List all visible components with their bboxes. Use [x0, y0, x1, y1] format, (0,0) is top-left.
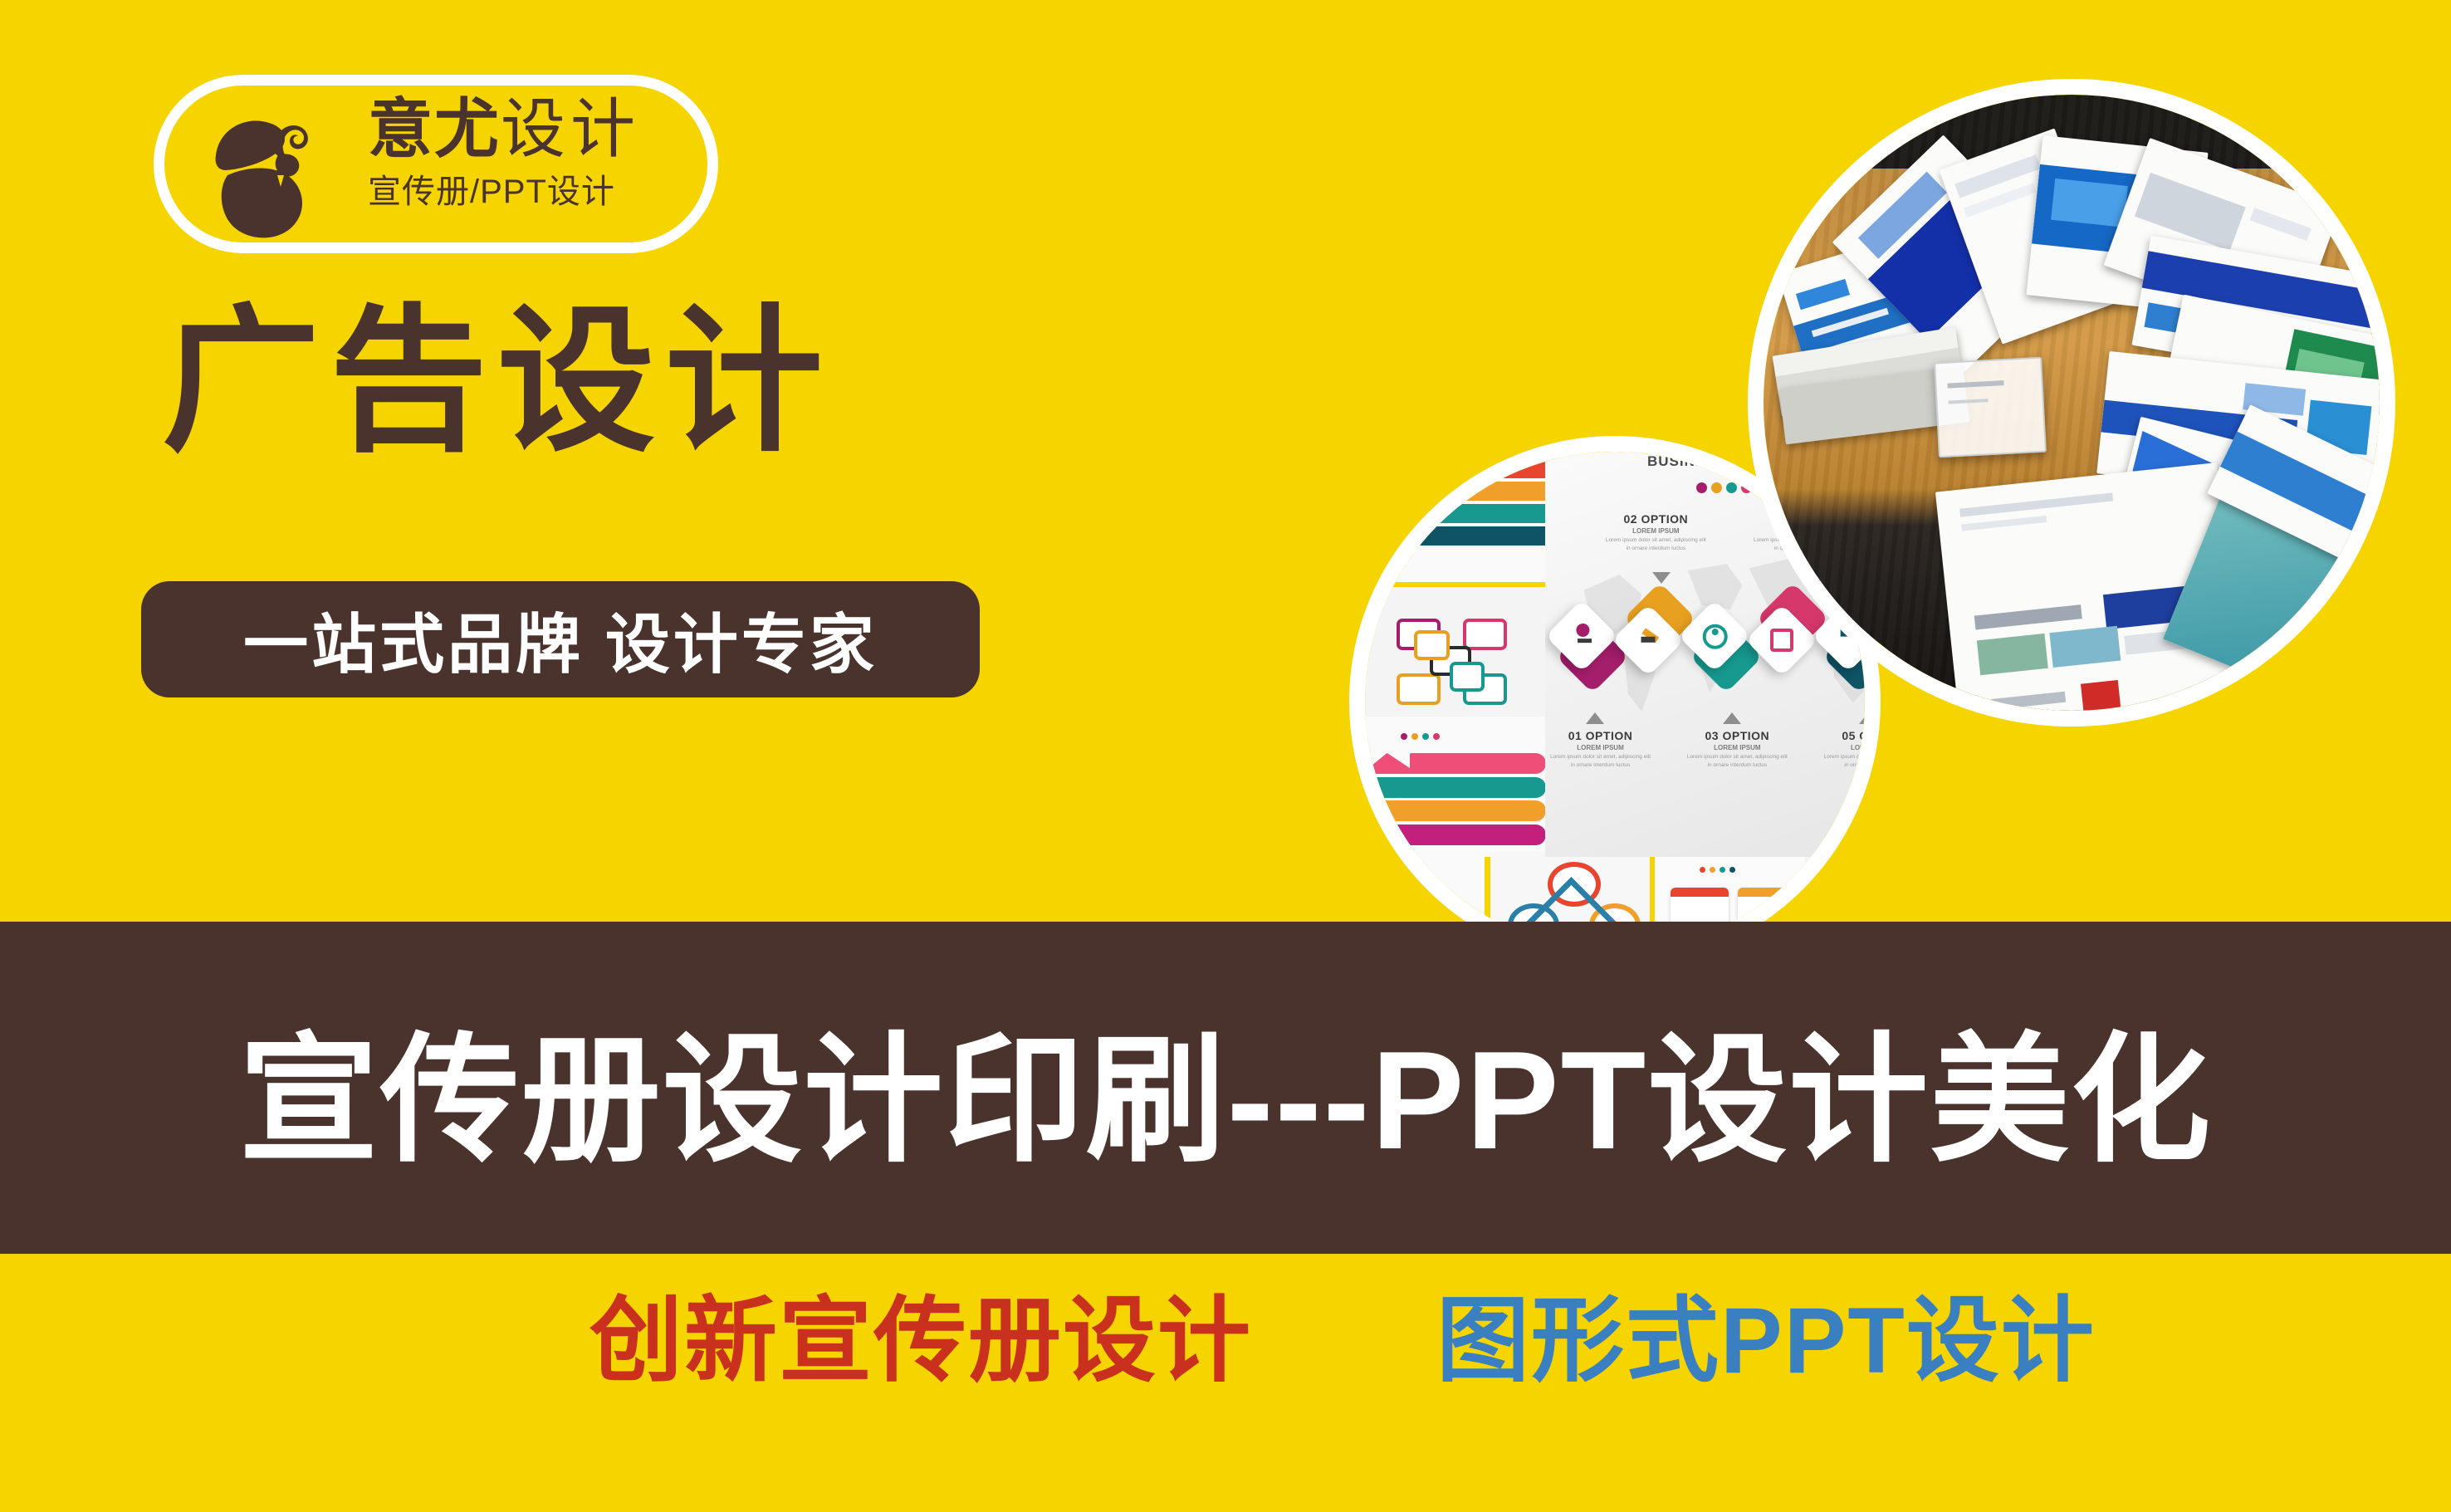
headline-band: 宣传册设计印刷---PPT设计美化: [0, 922, 2451, 1254]
palette-dots: [1696, 482, 1767, 493]
option-label-05: 05 OPTION LOREM IPSUM Lorem ipsum dolor …: [1822, 729, 1865, 769]
logo-brand-bold: 意尤: [368, 92, 501, 165]
brand-logo: 意尤设计 宣传册/PPT设计: [154, 75, 718, 253]
thumb-pyramid: [1365, 717, 1555, 857]
logo-brand-line: 意尤设计: [368, 89, 708, 169]
printed-brochure-photo-circle: [1748, 79, 2395, 727]
thumb-cross-icons: [1365, 587, 1555, 732]
gourd-bird-mascot-icon: [198, 95, 347, 245]
page-title: 广告设计: [162, 295, 833, 469]
brochure-photo-inner: [1764, 95, 2380, 711]
tagline-badge-label: 一站式品牌 设计专家: [243, 593, 878, 686]
logo-subtitle: 宣传册/PPT设计: [368, 169, 708, 215]
logo-brand-thin: 设计: [501, 92, 640, 165]
headline-band-text: 宣传册设计印刷---PPT设计美化: [239, 987, 2213, 1189]
footer-tag-brochure: 创新宣传册设计: [590, 1279, 1252, 1403]
option-label-03: 03 OPTION LOREM IPSUM Lorem ipsum dolor …: [1685, 729, 1789, 769]
footer-tag-ppt: 图形式PPT设计: [1436, 1279, 2096, 1403]
promo-banner: 意尤设计 宣传册/PPT设计 广告设计 一站式品牌 设计专家: [0, 0, 2451, 1512]
logo-text: 意尤设计 宣传册/PPT设计: [368, 89, 708, 255]
tagline-badge: 一站式品牌 设计专家: [141, 581, 980, 697]
thumb-banner-rows: [1365, 452, 1555, 582]
option-label-01: 01 OPTION LOREM IPSUM Lorem ipsum dolor …: [1548, 729, 1652, 769]
footer-tags: 创新宣传册设计 图形式PPT设计: [0, 1279, 2451, 1436]
business-card-holder: [1934, 357, 2047, 458]
option-label-02: 02 OPTION LOREM IPSUM Lorem ipsum dolor …: [1604, 512, 1708, 552]
